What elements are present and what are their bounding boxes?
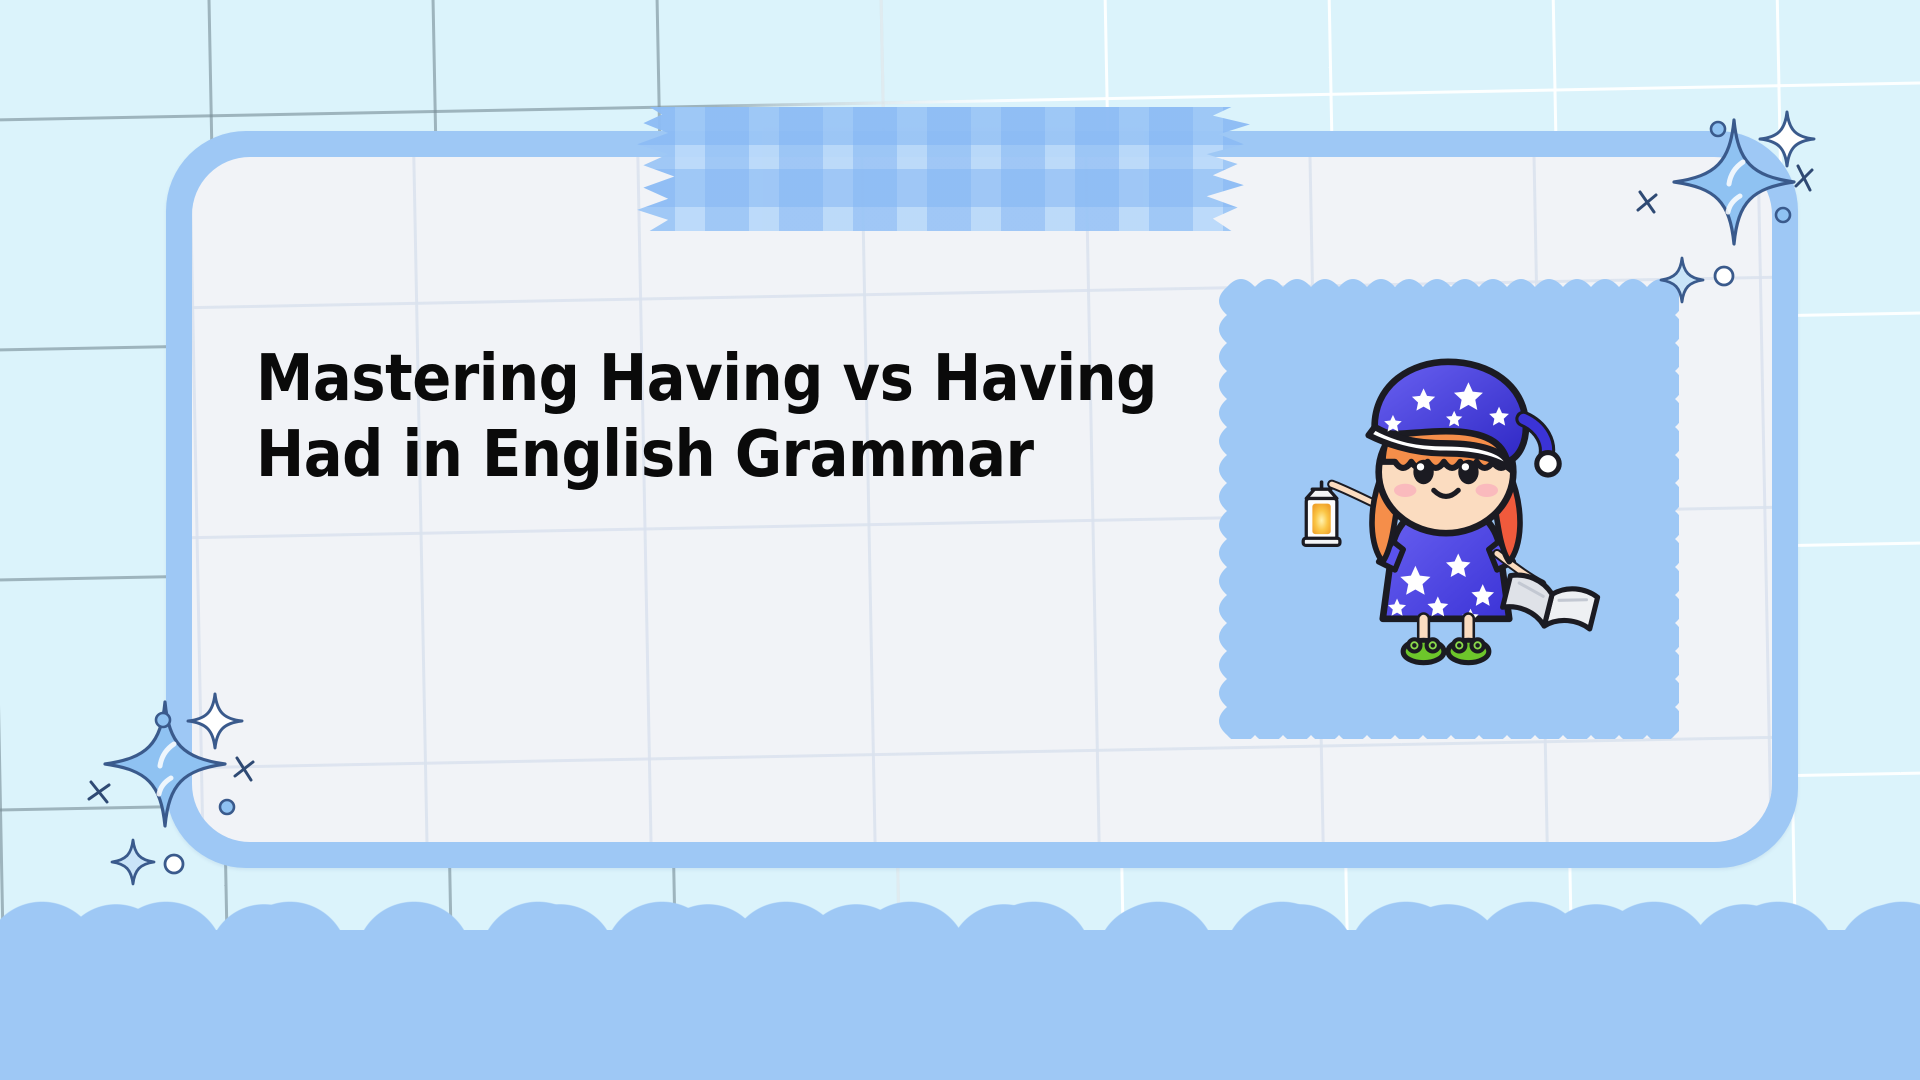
- bottom-scalloped-band: [0, 930, 1920, 1080]
- title-text: Mastering Having vs Having Had in Englis…: [256, 342, 1165, 493]
- plus-mark-icon: [1796, 166, 1812, 190]
- sparkle-tiny-icon: [112, 840, 154, 884]
- card-inner-surface: Mastering Having vs Having Had in Englis…: [192, 157, 1772, 842]
- plus-mark-small-icon: [89, 782, 109, 802]
- title-card-canvas: Mastering Having vs Having Had in Englis…: [0, 0, 1920, 1080]
- page-title: Mastering Having vs Having Had in Englis…: [256, 342, 1266, 493]
- dot-outline-icon: [165, 855, 183, 873]
- title-card: Mastering Having vs Having Had in Englis…: [166, 131, 1798, 868]
- illustration-panel: [1213, 273, 1679, 739]
- scallop-bumps-front: [42, 900, 1920, 960]
- washi-tape-pattern: [631, 107, 1250, 231]
- scallop-bumps-back: [0, 882, 1920, 960]
- washi-tape: [631, 107, 1250, 231]
